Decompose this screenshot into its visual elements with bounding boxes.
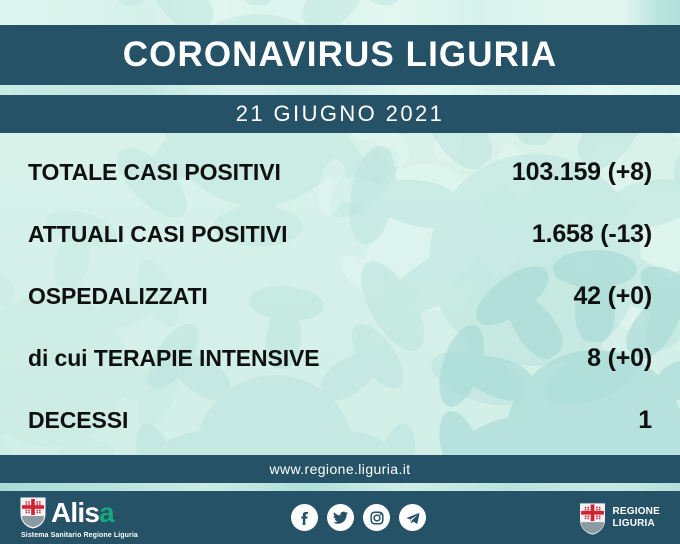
stat-value: 1.658 (-13) — [532, 220, 652, 249]
website-band[interactable]: www.regione.liguria.it — [0, 455, 680, 483]
stat-delta: (+0) — [608, 282, 652, 310]
stat-value: 1 — [638, 406, 652, 435]
stat-number: 42 — [573, 282, 600, 310]
stat-label: ATTUALI CASI POSITIVI — [28, 221, 287, 248]
coronavirus-liguria-infographic: CORONAVIRUS LIGURIA 21 GIUGNO 2021 TOTAL… — [0, 0, 680, 544]
title-band: CORONAVIRUS LIGURIA — [0, 25, 680, 85]
liguria-shield-icon — [20, 497, 46, 529]
alisa-name-main: Alis — [51, 497, 99, 528]
alisa-tagline: Sistema Sanitario Regione Liguria — [21, 532, 138, 539]
liguria-shield-icon — [579, 502, 605, 534]
telegram-icon[interactable] — [399, 504, 426, 531]
stat-row-decessi: DECESSI 1 — [28, 406, 652, 435]
stat-row-terapie-intensive: di cui TERAPIE INTENSIVE 8 (+0) — [28, 344, 652, 373]
alisa-wordmark: Alisa — [51, 499, 114, 527]
stat-delta: (+0) — [608, 344, 652, 372]
report-date: 21 GIUGNO 2021 — [236, 101, 444, 127]
facebook-icon[interactable] — [291, 504, 318, 531]
stat-label: DECESSI — [28, 407, 128, 434]
alisa-name-accent: a — [99, 497, 114, 528]
stat-delta: (+8) — [608, 158, 652, 186]
date-band: 21 GIUGNO 2021 — [0, 95, 680, 133]
stat-number: 103.159 — [512, 158, 601, 186]
regione-liguria-wordmark: REGIONE LIGURIA — [612, 506, 660, 529]
background-strip-top — [0, 0, 680, 25]
alisa-logo[interactable]: Alisa Sistema Sanitario Regione Liguria — [20, 497, 138, 539]
background-strip-footer — [0, 483, 680, 491]
stat-label: OSPEDALIZZATI — [28, 283, 208, 310]
stat-label: TOTALE CASI POSITIVI — [28, 159, 281, 186]
footer-band: Alisa Sistema Sanitario Regione Liguria — [0, 491, 680, 544]
stat-row-attuali-casi-positivi: ATTUALI CASI POSITIVI 1.658 (-13) — [28, 220, 652, 249]
stat-row-ospedalizzati: OSPEDALIZZATI 42 (+0) — [28, 282, 652, 311]
website-url[interactable]: www.regione.liguria.it — [269, 461, 410, 477]
regione-line1: REGIONE — [612, 506, 660, 517]
regione-liguria-logo[interactable]: REGIONE LIGURIA — [579, 502, 660, 534]
stat-label: di cui TERAPIE INTENSIVE — [28, 345, 320, 372]
social-links — [291, 504, 426, 531]
stat-value: 103.159 (+8) — [512, 158, 652, 187]
stat-delta: (-13) — [600, 220, 652, 248]
background-strip-middle — [0, 85, 680, 95]
twitter-icon[interactable] — [327, 504, 354, 531]
stat-number: 1 — [638, 406, 652, 434]
regione-line2: LIGURIA — [612, 518, 655, 529]
stat-number: 8 — [587, 344, 601, 372]
stat-value: 42 (+0) — [573, 282, 652, 311]
stat-row-totale-casi-positivi: TOTALE CASI POSITIVI 103.159 (+8) — [28, 158, 652, 187]
stat-value: 8 (+0) — [587, 344, 652, 373]
stat-number: 1.658 — [532, 220, 594, 248]
page-title: CORONAVIRUS LIGURIA — [123, 35, 557, 75]
statistics-list: TOTALE CASI POSITIVI 103.159 (+8) ATTUAL… — [0, 141, 680, 451]
instagram-icon[interactable] — [363, 504, 390, 531]
